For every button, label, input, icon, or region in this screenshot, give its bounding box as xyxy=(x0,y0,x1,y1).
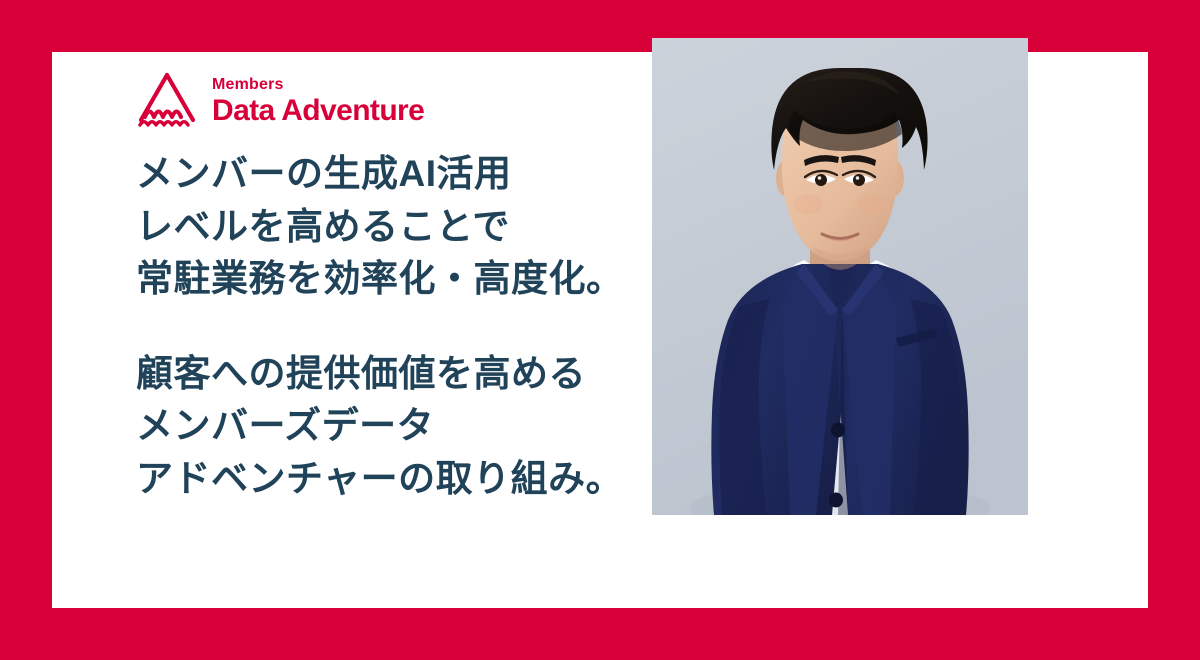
slide-canvas: Members Data Adventure メンバーの生成AI活用 レベルを高… xyxy=(0,0,1200,660)
mountain-wave-logo-icon xyxy=(136,72,198,130)
headline-paragraph-2: 顧客への提供価値を高める メンバーズデータ アドベンチャーの取り組み。 xyxy=(136,348,656,506)
logo-wordmark: Members Data Adventure xyxy=(212,77,424,126)
headline-block: メンバーの生成AI活用 レベルを高めることで 常駐業務を効率化・高度化。 顧客へ… xyxy=(136,148,656,505)
speaker-portrait-photo xyxy=(652,38,1028,515)
logo-data-adventure-text: Data Adventure xyxy=(212,96,424,126)
logo-members-text: Members xyxy=(212,77,424,93)
brand-logo-lockup: Members Data Adventure xyxy=(136,72,424,130)
headline-paragraph-1: メンバーの生成AI活用 レベルを高めることで 常駐業務を効率化・高度化。 xyxy=(136,148,656,306)
